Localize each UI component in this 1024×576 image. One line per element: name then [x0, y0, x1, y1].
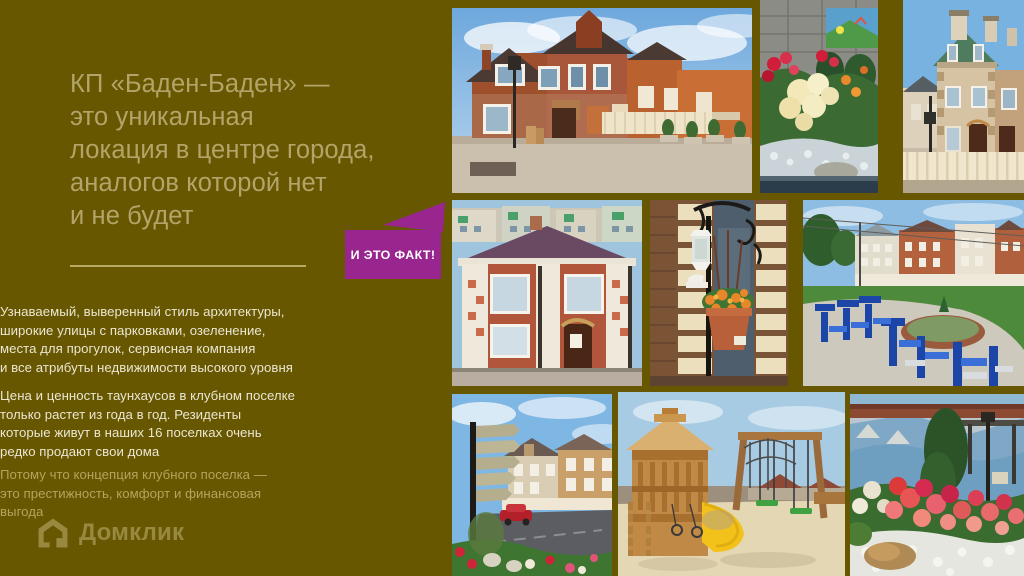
left-text-panel: КП «Баден-Баден» — это уникальная локаци…: [0, 0, 440, 576]
callout-label: И ЭТО ФАКТ!: [351, 248, 436, 262]
brand-logo[interactable]: Домклик: [36, 516, 184, 550]
photo-rose-garden-mural[interactable]: [850, 394, 1024, 576]
photo-townhouse-brick-mansard[interactable]: [452, 8, 752, 193]
paragraph-features: Узнаваемый, выверенный стиль архитектуры…: [0, 303, 293, 377]
slide-root: КП «Баден-Баден» — это уникальная локаци…: [0, 0, 1024, 576]
photo-street-signpost[interactable]: [452, 394, 612, 576]
logo-wordmark: Домклик: [79, 519, 184, 547]
divider: [70, 265, 306, 267]
house-logo-icon: [36, 516, 70, 550]
photo-house-purple-roof[interactable]: [452, 200, 642, 386]
fact-callout: И ЭТО ФАКТ!: [345, 202, 445, 280]
photo-street-outdoor-gym[interactable]: [803, 200, 1024, 386]
callout-badge: И ЭТО ФАКТ!: [345, 230, 441, 279]
photo-townhouse-light-brick[interactable]: [903, 0, 1024, 193]
photo-gallery: [440, 0, 1024, 576]
photo-flowerbed-roses[interactable]: [760, 0, 878, 193]
paragraph-value: Цена и ценность таунхаусов в клубном пос…: [0, 387, 295, 461]
photo-playground-slide[interactable]: [618, 392, 845, 576]
photo-lantern-hanging-basket[interactable]: [650, 200, 788, 386]
paragraph-concept: Потому что концепция клубного поселка — …: [0, 466, 267, 522]
